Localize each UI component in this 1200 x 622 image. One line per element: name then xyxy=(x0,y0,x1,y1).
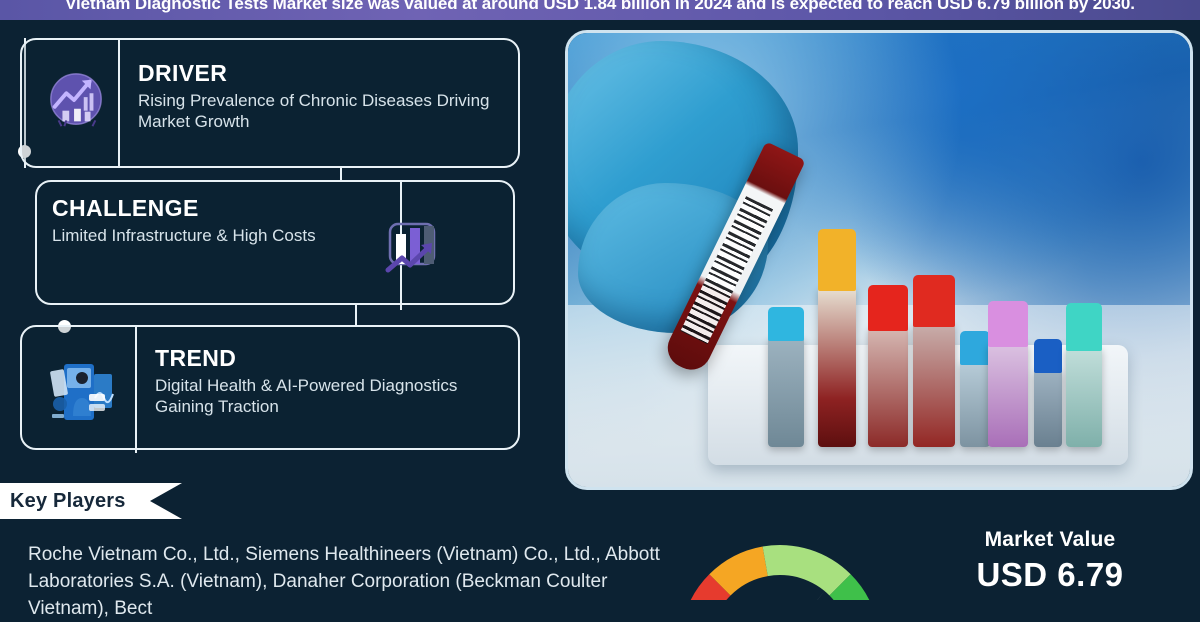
trend-description: Digital Health & AI-Powered Diagnostics … xyxy=(155,375,515,417)
connector-line-trend xyxy=(355,305,357,327)
challenge-card-text: CHALLENGE Limited Infrastructure & High … xyxy=(52,195,382,246)
vial-red-2 xyxy=(913,323,955,447)
trend-title: TREND xyxy=(155,345,515,372)
trend-card-divider xyxy=(135,325,137,453)
header-banner: Vietnam Diagnostic Tests Market size was… xyxy=(0,0,1200,20)
bar-chart-arrow-icon xyxy=(380,220,450,282)
growth-chart-globe-icon xyxy=(45,70,107,132)
challenge-description: Limited Infrastructure & High Costs xyxy=(52,225,382,246)
trend-card-text: TREND Digital Health & AI-Powered Diagno… xyxy=(155,345,515,417)
vial-blue-2 xyxy=(960,361,990,447)
vial-red-1 xyxy=(868,327,908,447)
vial-pink xyxy=(988,343,1028,447)
vial-teal xyxy=(1066,347,1102,447)
driver-description: Rising Prevalence of Chronic Diseases Dr… xyxy=(138,90,508,132)
header-title: Vietnam Diagnostic Tests Market size was… xyxy=(0,0,1200,16)
vial-blue-1 xyxy=(768,337,804,447)
digital-health-person-icon xyxy=(48,360,118,426)
key-players-list: Roche Vietnam Co., Ltd., Siemens Healthi… xyxy=(28,541,668,622)
key-players-heading: Key Players xyxy=(10,490,126,513)
laboratory-blood-sample-photo xyxy=(565,30,1193,490)
challenge-title: CHALLENGE xyxy=(52,195,382,222)
driver-title: DRIVER xyxy=(138,60,508,87)
driver-card-text: DRIVER Rising Prevalence of Chronic Dise… xyxy=(138,60,508,132)
driver-card-divider xyxy=(118,40,120,168)
vial-navy xyxy=(1034,369,1062,447)
gauge-needle xyxy=(774,589,826,600)
vial-yellow xyxy=(818,287,856,447)
market-value-label: Market Value xyxy=(905,528,1195,552)
market-value-block: Market Value USD 6.79 xyxy=(905,528,1195,594)
market-growth-gauge xyxy=(660,525,900,600)
market-value-amount: USD 6.79 xyxy=(905,556,1195,594)
